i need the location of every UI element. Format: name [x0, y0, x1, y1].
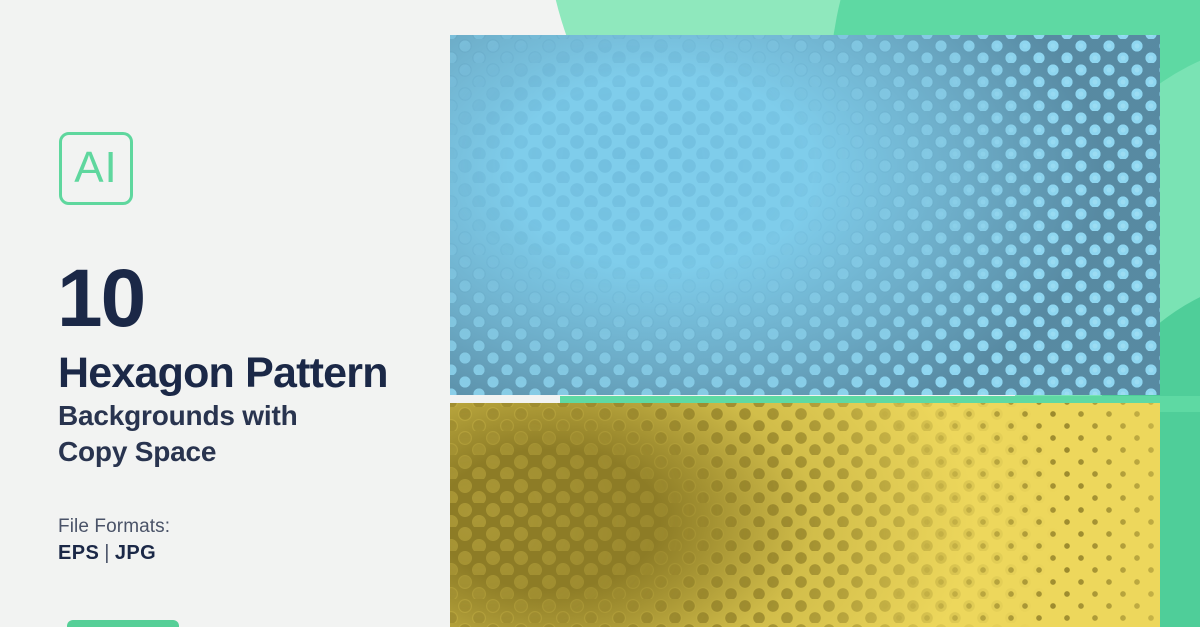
ai-format-badge: AI [59, 132, 133, 205]
file-format-eps: EPS [58, 542, 99, 564]
page-subtitle: Backgrounds with Copy Space [58, 398, 298, 470]
file-format-jpg: JPG [115, 542, 156, 564]
page-title: Hexagon Pattern [58, 352, 388, 395]
ai-badge-label: AI [74, 146, 118, 190]
file-format-separator: | [99, 542, 115, 564]
yellow-hexagon-fine-dot-layer [450, 403, 1160, 627]
file-formats-value: EPS|JPG [58, 542, 156, 565]
yellow-preview-halftone [450, 403, 1160, 627]
blue-preview-halftone [450, 35, 1160, 395]
page-subtitle-line-2: Copy Space [58, 434, 298, 470]
blue-hexagon-preview [450, 35, 1160, 395]
yellow-hexagon-preview [450, 403, 1160, 627]
blue-hexagon-fine-dot-layer [450, 35, 1160, 395]
page-subtitle-line-1: Backgrounds with [58, 398, 298, 434]
cta-button[interactable] [67, 620, 179, 627]
file-formats-label: File Formats: [58, 516, 170, 538]
item-count: 10 [57, 258, 144, 340]
info-panel: AI 10 Hexagon Pattern Backgrounds with C… [0, 0, 450, 627]
promo-canvas: AI 10 Hexagon Pattern Backgrounds with C… [0, 0, 1200, 627]
